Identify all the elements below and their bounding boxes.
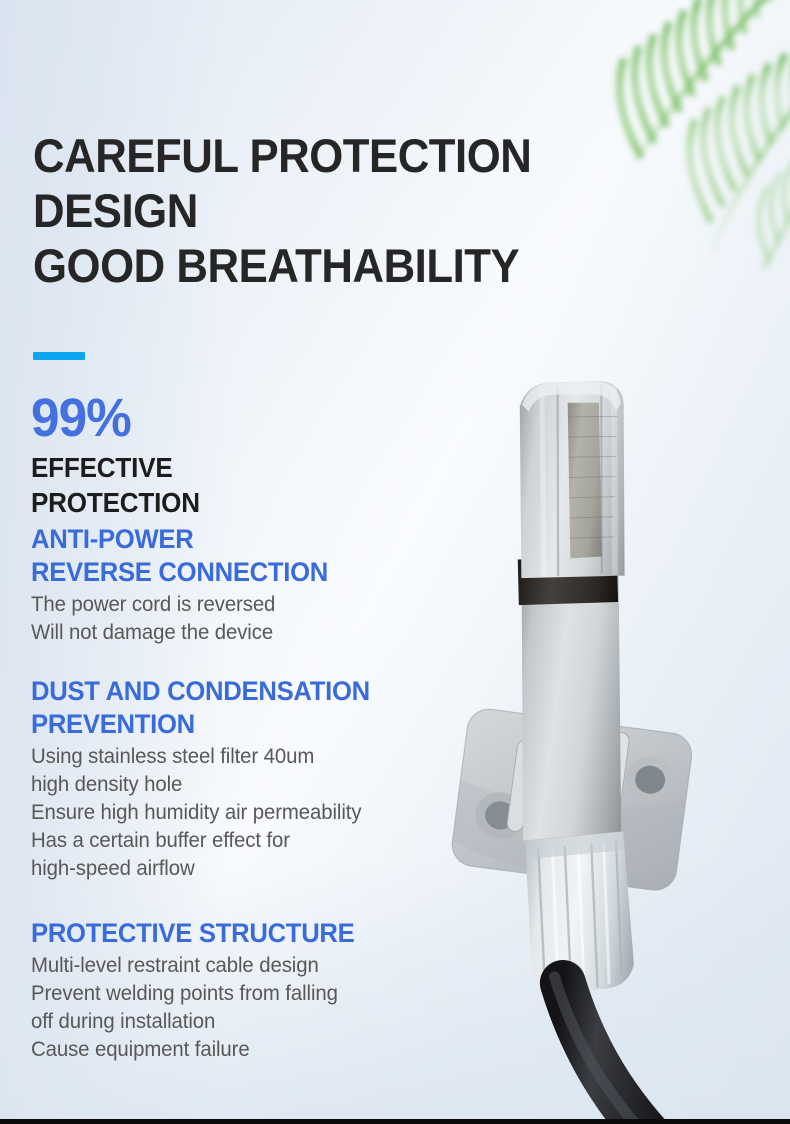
feature-dust-condensation: DUST AND CONDENSATION PREVENTION Using s… xyxy=(31,675,471,883)
feature-title: ANTI-POWER REVERSE CONNECTION xyxy=(31,523,449,589)
feature-title: DUST AND CONDENSATION PREVENTION xyxy=(31,675,449,741)
text-column: CAREFUL PROTECTION DESIGN GOOD BREATHABI… xyxy=(0,0,470,1124)
feature-body: The power cord is reversed Will not dama… xyxy=(31,591,458,647)
feature-anti-power: ANTI-POWER REVERSE CONNECTION The power … xyxy=(31,523,471,647)
feature-body: Multi-level restraint cable design Preve… xyxy=(31,952,458,1064)
feature-title: PROTECTIVE STRUCTURE xyxy=(31,917,449,950)
accent-divider xyxy=(33,352,85,360)
feature-protective-structure: PROTECTIVE STRUCTURE Multi-level restrai… xyxy=(31,917,471,1064)
feature-body: Using stainless steel filter 40um high d… xyxy=(31,743,458,883)
effectiveness-stat-value: 99% xyxy=(31,391,131,445)
poster-canvas: CAREFUL PROTECTION DESIGN GOOD BREATHABI… xyxy=(0,0,790,1124)
effectiveness-stat-caption: EFFECTIVE PROTECTION xyxy=(31,450,200,520)
page-title: CAREFUL PROTECTION DESIGN GOOD BREATHABI… xyxy=(33,128,628,293)
